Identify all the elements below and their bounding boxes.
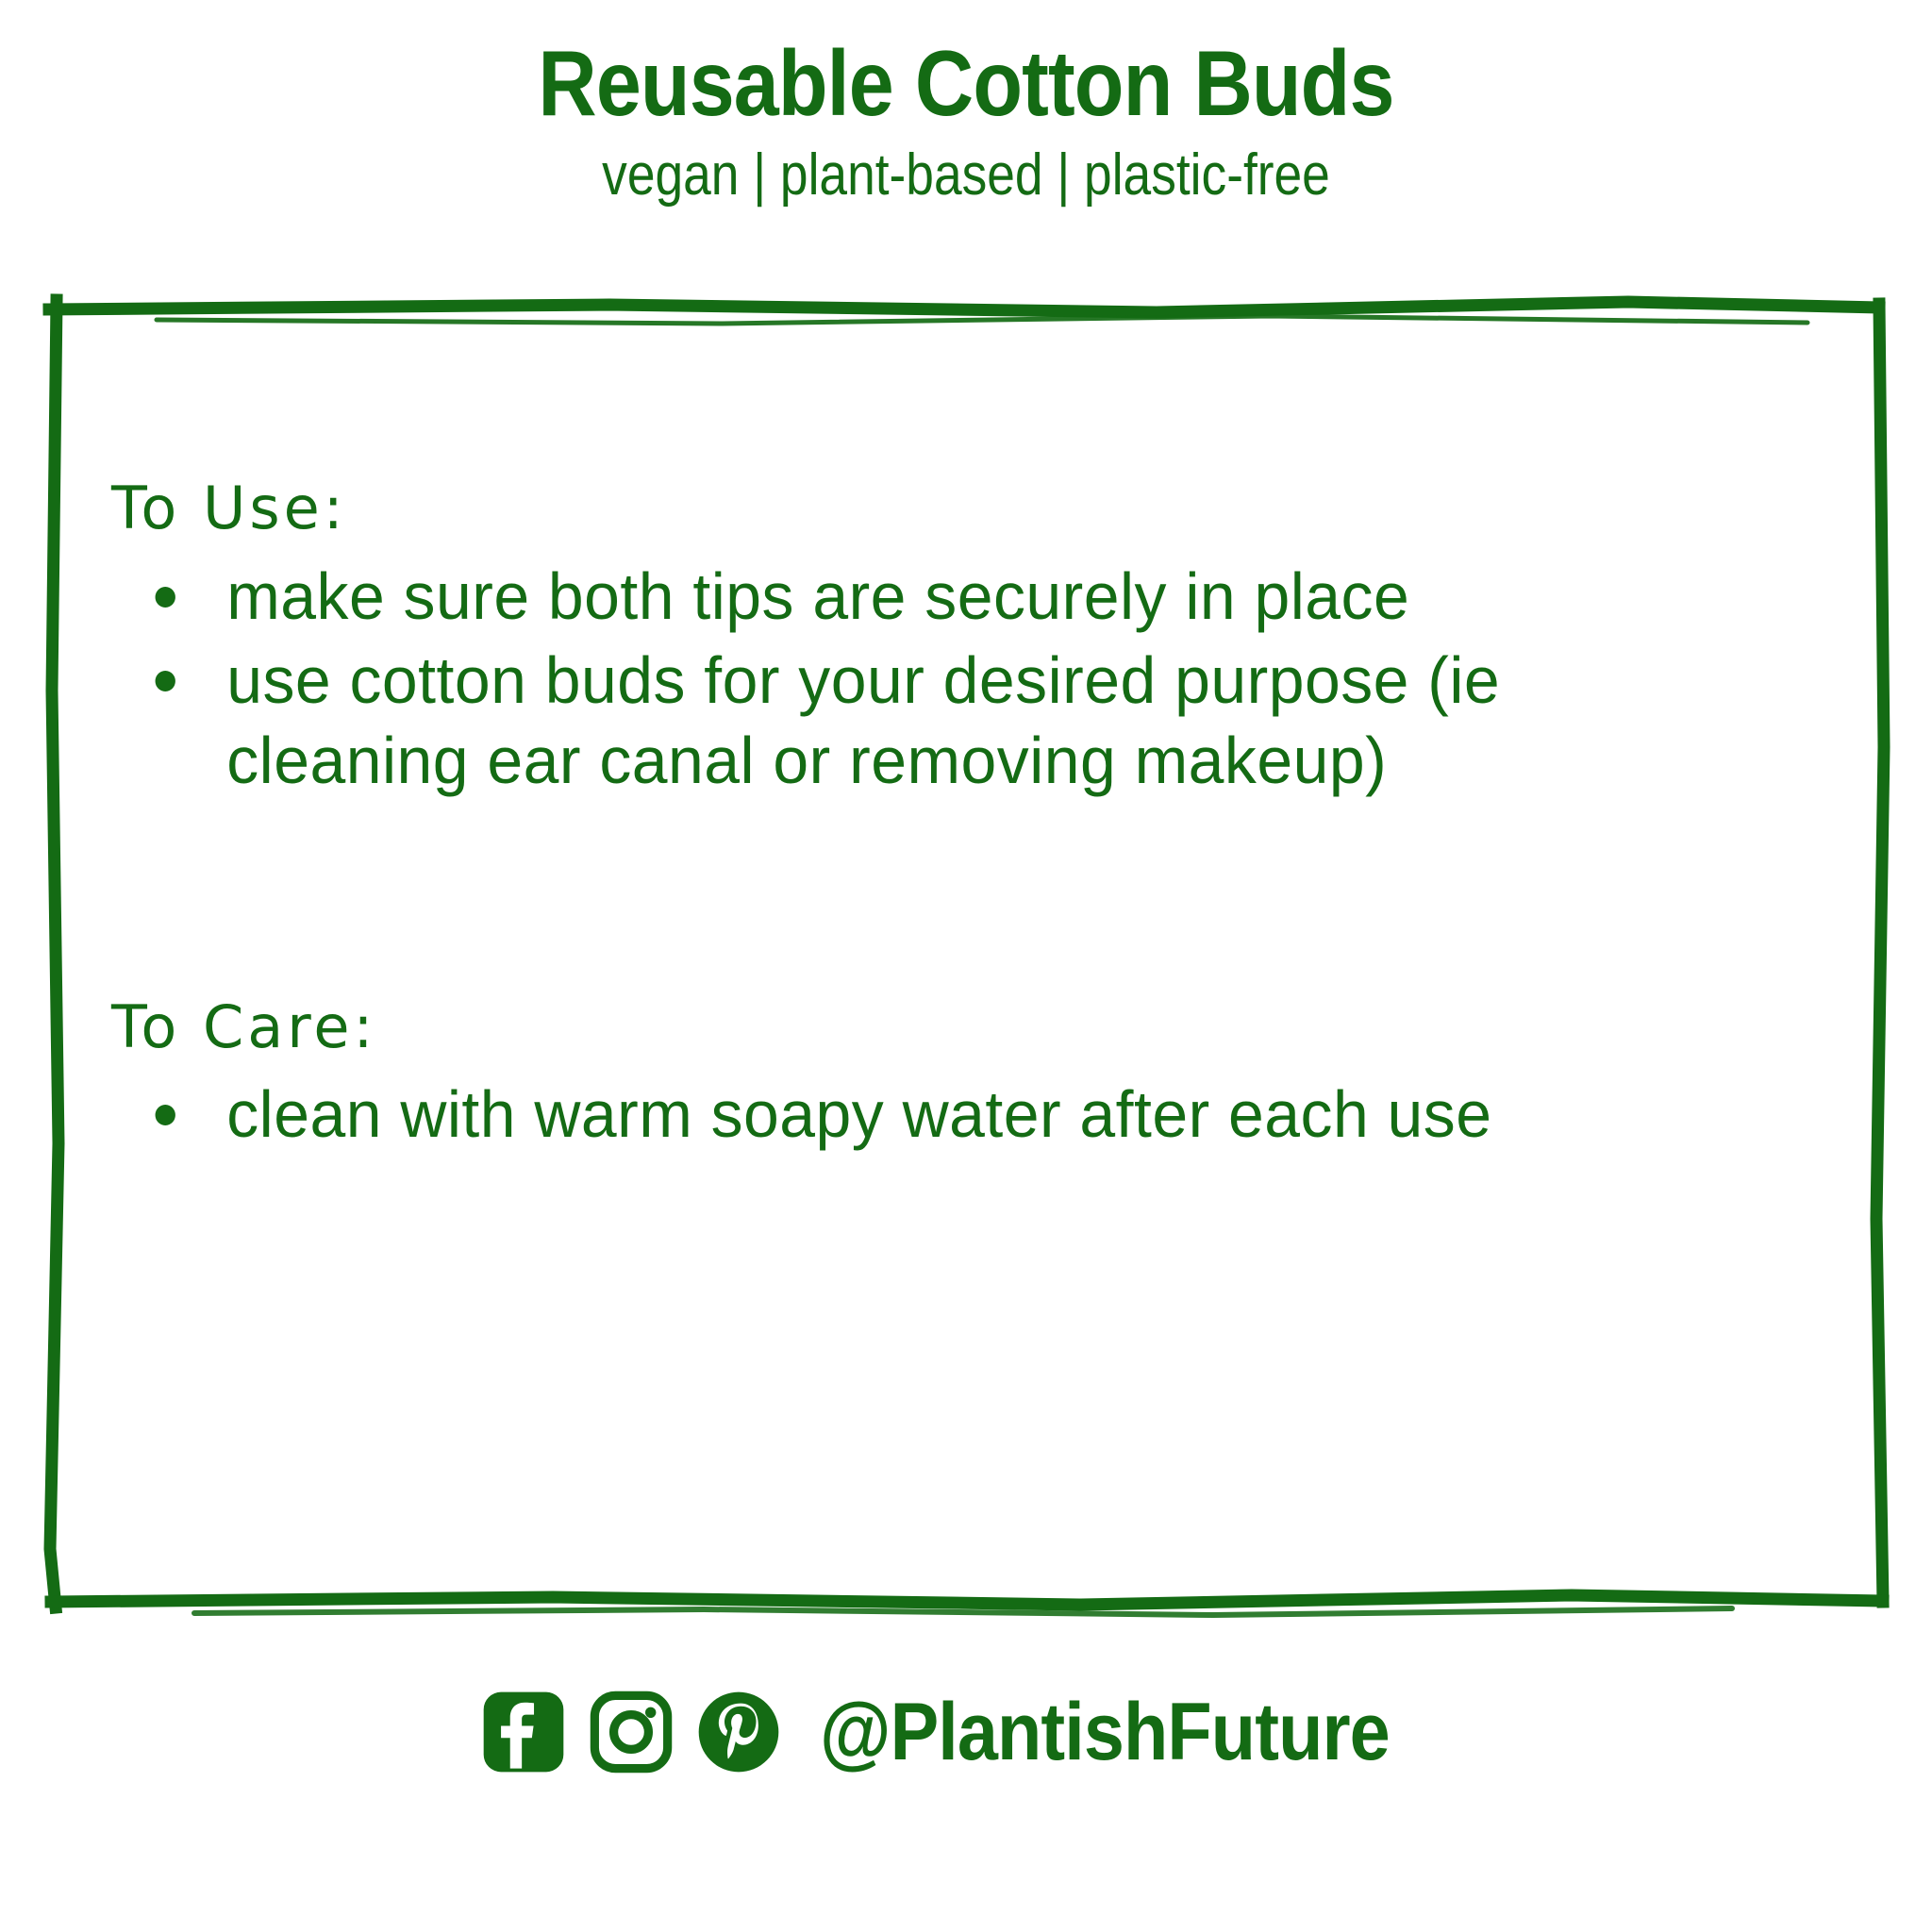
instructions: To Use: make sure both tips are securely… [111, 472, 1809, 1159]
frame-edge-top-accent [157, 316, 1807, 324]
list-item-text: use cotton buds for your desired purpose… [226, 643, 1500, 797]
facebook-icon[interactable] [480, 1689, 567, 1775]
section-spacer [111, 806, 1809, 991]
bullet-dot-icon [156, 587, 175, 608]
frame-edge-bottom-accent [194, 1608, 1732, 1615]
social-handle[interactable]: @PlantishFuture [820, 1691, 1390, 1773]
social-links [480, 1689, 782, 1775]
list-item-text: clean with warm soapy water after each u… [226, 1077, 1491, 1151]
frame-edge-right [1876, 304, 1884, 1602]
section-to-use: To Use: make sure both tips are securely… [111, 472, 1809, 802]
pinterest-icon[interactable] [695, 1689, 782, 1775]
frame-edge-top [49, 302, 1879, 312]
page-title: Reusable Cotton Buds [116, 0, 1816, 134]
header: Reusable Cotton Buds vegan | plant-based… [0, 0, 1932, 208]
section-heading-to-care: To Care: [111, 991, 1809, 1064]
bullet-list-to-use: make sure both tips are securely in plac… [111, 557, 1809, 802]
list-item-text: make sure both tips are securely in plac… [226, 559, 1409, 633]
instagram-icon[interactable] [588, 1689, 675, 1775]
bullet-list-to-care: clean with warm soapy water after each u… [111, 1074, 1809, 1155]
bullet-dot-icon [156, 671, 175, 691]
product-care-card: Reusable Cotton Buds vegan | plant-based… [0, 0, 1932, 1932]
footer: @PlantishFuture [0, 1689, 1932, 1775]
list-item: clean with warm soapy water after each u… [111, 1074, 1758, 1155]
frame-edge-left [50, 300, 58, 1607]
section-to-care: To Care: clean with warm soapy water aft… [111, 991, 1809, 1156]
frame-edge-bottom [51, 1595, 1883, 1605]
section-heading-to-use: To Use: [111, 472, 1809, 545]
product-subtitle: vegan | plant-based | plastic-free [135, 134, 1796, 208]
list-item: make sure both tips are securely in plac… [111, 557, 1758, 637]
bullet-dot-icon [156, 1105, 175, 1125]
list-item: use cotton buds for your desired purpose… [111, 641, 1758, 802]
